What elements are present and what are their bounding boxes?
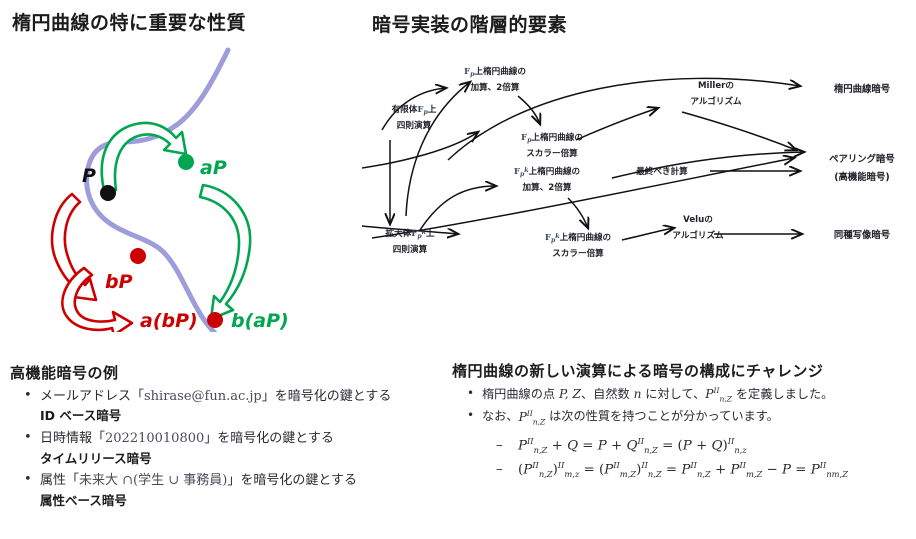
node-miller: Millerの アルゴリズム <box>690 80 742 107</box>
example-suffix: 」を暗号化の鍵とする <box>227 473 357 488</box>
curve-point-P <box>100 185 116 201</box>
node-pairing-crypto: ペアリング暗号 (高機能暗号) <box>829 153 895 183</box>
list-item: メールアドレス「shirase@fun.ac.jp」を暗号化の鍵とする ID ベ… <box>40 388 448 425</box>
challenge-content: 楕円曲線の点 P, Z、自然数 n に対して、PIIn,Z を定義しました。 な… <box>462 386 908 482</box>
svg-text:Fp上楕円曲線の: Fp上楕円曲線の <box>521 131 583 144</box>
page-title-top-right: 暗号実装の階層的要素 <box>372 10 567 37</box>
edge-lowleft-to-pairing <box>372 158 794 238</box>
svg-text:有限体Fp上: 有限体Fp上 <box>392 103 437 116</box>
svg-text:ペアリング暗号: ペアリング暗号 <box>829 153 895 165</box>
curve-label-P: P <box>82 165 96 187</box>
example-scheme: タイムリリース暗号 <box>40 450 448 468</box>
equation-1: PIIn,Z + Q = P + QIIn,Z = (P + Q)IIn,z <box>496 434 908 458</box>
crypto-hierarchy-diagram: 有限体Fp上 四則演算 拡大体Fpk上 四則演算 Fp上楕円曲線の 加算、2倍算… <box>362 40 916 300</box>
example-prefix: メールアドレス「 <box>40 389 144 404</box>
advanced-crypto-example-list: メールアドレス「shirase@fun.ac.jp」を暗号化の鍵とする ID ベ… <box>18 388 448 515</box>
node-isogeny-crypto: 同種写像暗号 <box>834 229 890 241</box>
svg-text:アルゴリズム: アルゴリズム <box>690 95 742 107</box>
edge-fp-scalar-to-miller <box>576 108 658 140</box>
curve-point-aP <box>178 154 194 170</box>
node-fp-ec-add: Fp上楕円曲線の 加算、2倍算 <box>464 65 526 93</box>
example-suffix: 」を暗号化の鍵とする <box>262 389 392 404</box>
list-item: なお、PIIn,Z は次の性質を持つことが分かっています。 <box>482 408 908 427</box>
node-velu: Veluの アルゴリズム <box>672 214 724 241</box>
svg-text:拡大体Fpk上: 拡大体Fpk上 <box>385 227 435 240</box>
curve-label-baP: b(aP) <box>231 310 289 332</box>
list-item: 楕円曲線の点 P, Z、自然数 n に対して、PIIn,Z を定義しました。 <box>482 386 908 405</box>
curve-label-abP: a(bP) <box>140 310 198 332</box>
node-final-exponentiation: 最終べき計算 <box>636 165 688 177</box>
node-fp-ec-scalar: Fp上楕円曲線の スカラー倍算 <box>521 131 583 159</box>
curve-label-bP: bP <box>105 271 133 293</box>
elliptic-curve-figure: P aP bP a(bP) b(aP) <box>0 42 360 332</box>
example-value: 未来大 ∩(学生 ∪ 事務員) <box>79 473 227 488</box>
example-prefix: 日時情報「 <box>40 431 105 446</box>
equation-list: PIIn,Z + Q = P + QIIn,Z = (P + Q)IIn,z (… <box>496 434 908 482</box>
svg-text:Fpk上楕円曲線の: Fpk上楕円曲線の <box>514 165 580 178</box>
node-ecc: 楕円曲線暗号 <box>834 83 890 95</box>
svg-text:加算、2倍算: 加算、2倍算 <box>522 181 572 193</box>
node-fp-arith: 有限体Fp上 四則演算 <box>392 103 437 131</box>
svg-text:四則演算: 四則演算 <box>393 243 428 255</box>
node-fpk-ec-scalar: Fpk上楕円曲線の スカラー倍算 <box>545 231 611 259</box>
svg-text:アルゴリズム: アルゴリズム <box>672 229 724 241</box>
svg-text:加算、2倍算: 加算、2倍算 <box>470 81 520 93</box>
example-scheme: 属性ベース暗号 <box>40 492 448 510</box>
equation-2: (PIIn,Z)IIm,z = (PIIm,Z)IIn,Z = PIIn,Z +… <box>496 458 908 482</box>
svg-text:スカラー倍算: スカラー倍算 <box>552 247 604 259</box>
slide-root: 楕円曲線の特に重要な性質 暗号実装の階層的要素 高機能暗号の例 楕円曲線の新しい… <box>0 0 916 539</box>
example-suffix: 」を暗号化の鍵とする <box>204 431 334 446</box>
arrow-p-to-ap <box>102 123 186 190</box>
svg-text:最終べき計算: 最終べき計算 <box>636 165 688 177</box>
svg-text:楕円曲線暗号: 楕円曲線暗号 <box>834 83 890 95</box>
section-title-challenge: 楕円曲線の新しい演算による暗号の構成にチャレンジ <box>452 360 823 381</box>
svg-text:同種写像暗号: 同種写像暗号 <box>834 229 890 241</box>
svg-text:(高機能暗号): (高機能暗号) <box>834 171 889 183</box>
svg-text:Veluの: Veluの <box>683 214 713 225</box>
node-fpk-arith: 拡大体Fpk上 四則演算 <box>385 227 435 255</box>
svg-text:Fpk上楕円曲線の: Fpk上楕円曲線の <box>545 231 611 244</box>
edge-fpk-scalar-to-velu <box>622 228 674 240</box>
arrow-ap-to-bap <box>200 185 250 319</box>
curve-point-abP <box>207 312 223 328</box>
svg-text:Fp上楕円曲線の: Fp上楕円曲線の <box>464 65 526 78</box>
curve-label-aP: aP <box>200 157 227 179</box>
svg-text:スカラー倍算: スカラー倍算 <box>526 147 578 159</box>
example-prefix: 属性「 <box>40 473 79 488</box>
page-title-top-left: 楕円曲線の特に重要な性質 <box>12 8 246 35</box>
edge-miller-to-pairing <box>682 112 796 150</box>
svg-text:Millerの: Millerの <box>698 80 734 91</box>
example-scheme: ID ベース暗号 <box>40 407 448 425</box>
example-value: 202210010800 <box>105 431 204 446</box>
list-item: 属性「未来大 ∩(学生 ∪ 事務員)」を暗号化の鍵とする 属性ベース暗号 <box>40 472 448 509</box>
curve-point-bP <box>130 248 146 264</box>
list-item: 日時情報「202210010800」を暗号化の鍵とする タイムリリース暗号 <box>40 430 448 467</box>
section-title-advanced-crypto: 高機能暗号の例 <box>10 362 119 383</box>
svg-text:四則演算: 四則演算 <box>397 119 432 131</box>
node-fpk-ec-add: Fpk上楕円曲線の 加算、2倍算 <box>514 165 580 193</box>
example-value: shirase@fun.ac.jp <box>144 389 262 404</box>
